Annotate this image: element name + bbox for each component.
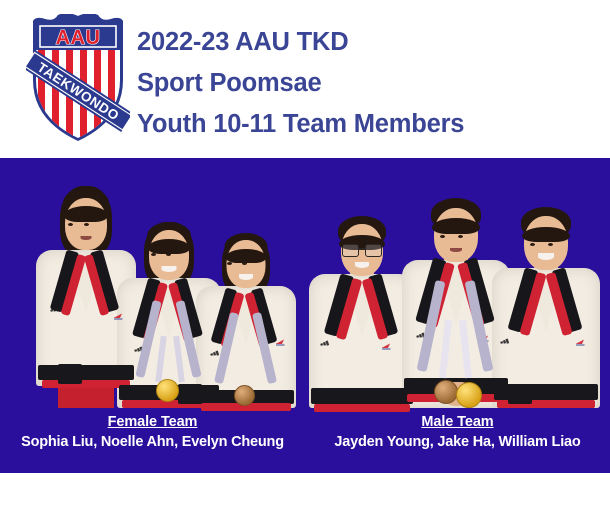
bronze-medal — [234, 385, 255, 406]
gold-medal — [156, 379, 179, 402]
male-photo-stage — [314, 180, 596, 408]
male-team-title: Male Team — [305, 412, 610, 432]
eyeglasses-icon — [342, 244, 382, 256]
aau-taekwondo-logo: AAU TAEKWONDO — [26, 14, 130, 142]
logo-chief-text: AAU — [56, 27, 101, 49]
adidas-logo-icon — [210, 349, 220, 356]
female-team-photo — [14, 180, 282, 408]
title-line-2: Sport Poomsae — [137, 63, 597, 104]
athlete-male-3 — [490, 200, 602, 408]
title-line-1: 2022-23 AAU TKD — [137, 22, 597, 63]
female-team-caption: Female Team Sophia Liu, Noelle Ahn, Evel… — [0, 412, 305, 453]
world-taekwondo-logo-icon — [275, 338, 286, 346]
adidas-logo-icon — [320, 339, 330, 346]
world-taekwondo-logo-icon — [113, 312, 124, 320]
gold-medal — [456, 382, 482, 408]
footer-whitespace — [0, 473, 610, 511]
header-banner: AAU TAEKWONDO 2022-23 AAU TKD Sport Poom… — [0, 0, 610, 158]
title-line-3: Youth 10-11 Team Members — [137, 104, 597, 145]
athlete-female-3 — [194, 222, 298, 408]
world-taekwondo-logo-icon — [381, 342, 392, 350]
female-photo-stage — [14, 180, 282, 408]
adidas-logo-icon — [500, 337, 510, 344]
page-title: 2022-23 AAU TKD Sport Poomsae Youth 10-1… — [137, 22, 597, 145]
female-team-names: Sophia Liu, Noelle Ahn, Evelyn Cheung — [0, 432, 305, 453]
shield-graphic: AAU TAEKWONDO — [26, 14, 130, 142]
female-team-title: Female Team — [0, 412, 305, 432]
world-taekwondo-logo-icon — [575, 338, 586, 346]
team-photo-band: Female Team Sophia Liu, Noelle Ahn, Evel… — [0, 158, 610, 473]
male-team-caption: Male Team Jayden Young, Jake Ha, William… — [305, 412, 610, 453]
male-team-names: Jayden Young, Jake Ha, William Liao — [305, 432, 610, 453]
adidas-logo-icon — [50, 305, 60, 312]
male-team-photo — [314, 180, 596, 408]
bronze-medal — [434, 380, 458, 404]
